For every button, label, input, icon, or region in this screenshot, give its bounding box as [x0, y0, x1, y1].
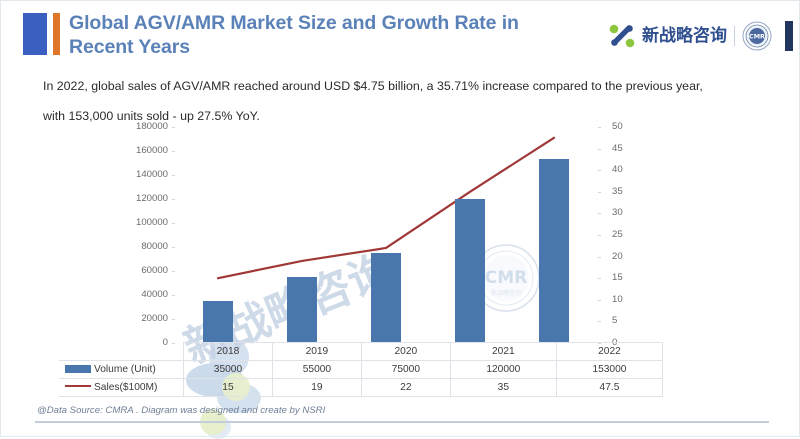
- table-cell-r1-c1: 19: [272, 379, 361, 397]
- table-cell-r0-c1: 55000: [272, 361, 361, 379]
- y2-axis-tick-mark: [598, 127, 601, 128]
- y-axis-tick-mark: [172, 151, 175, 152]
- y-axis-tick-label: 20000: [116, 313, 168, 324]
- footer-divider: [35, 421, 769, 423]
- y2-axis-tick-mark: [598, 321, 601, 322]
- y2-axis-tick-mark: [598, 192, 601, 193]
- data-source-note: @Data Source: CMRA . Diagram was designe…: [37, 405, 325, 416]
- table-year-2020: 2020: [361, 343, 450, 361]
- y2-axis-tick-label: 10: [612, 294, 642, 305]
- table-year-2018: 2018: [184, 343, 273, 361]
- y-axis-tick-label: 140000: [116, 169, 168, 180]
- y2-axis-tick-label: 45: [612, 143, 642, 154]
- nsri-logo-icon: [609, 24, 635, 48]
- brand-logo-group: 新战略咨询 CMR: [609, 21, 793, 51]
- slide-canvas: Global AGV/AMR Market Size and Growth Ra…: [0, 0, 800, 437]
- header-accent-block: [23, 13, 47, 55]
- header-accent-bar: [53, 13, 60, 55]
- y-axis-tick-mark: [172, 127, 175, 128]
- y2-axis-tick-mark: [598, 257, 601, 258]
- logo-divider: [734, 26, 735, 46]
- y-axis-tick-label: 100000: [116, 217, 168, 228]
- table-cell-r0-c3: 120000: [450, 361, 556, 379]
- table-cell-r1-c4: 47.5: [556, 379, 662, 397]
- plot-area: 0200004000060000800001000001200001400001…: [176, 127, 596, 343]
- bar-2021: [455, 199, 485, 343]
- line-swatch-icon: [65, 385, 91, 387]
- y-axis-tick-label: 160000: [116, 145, 168, 156]
- legend-cell-sales: Sales($100M): [59, 379, 184, 397]
- legend-label-sales: Sales($100M): [94, 382, 157, 393]
- table-cell-r1-c3: 35: [450, 379, 556, 397]
- y2-axis-tick-label: 25: [612, 229, 642, 240]
- y2-axis-tick-label: 5: [612, 315, 642, 326]
- bar-2019: [287, 277, 317, 343]
- y2-axis-tick-label: 50: [612, 121, 642, 132]
- table-cell-r1-c2: 22: [361, 379, 450, 397]
- y-axis-tick-mark: [172, 295, 175, 296]
- y2-axis-tick-mark: [598, 300, 601, 301]
- table-row-years: 20182019202020212022: [59, 343, 663, 361]
- y2-axis-tick-label: 30: [612, 207, 642, 218]
- y2-axis-tick-mark: [598, 278, 601, 279]
- table-cell-r1-c0: 15: [184, 379, 273, 397]
- y2-axis-tick-mark: [598, 170, 601, 171]
- watermark-blob-icon: [205, 415, 231, 439]
- table-cell-r0-c2: 75000: [361, 361, 450, 379]
- slide-header: Global AGV/AMR Market Size and Growth Ra…: [1, 1, 800, 65]
- y2-axis-tick-mark: [598, 213, 601, 214]
- y2-axis-tick-mark: [598, 235, 601, 236]
- y-axis-tick-mark: [172, 271, 175, 272]
- y-axis-tick-mark: [172, 247, 175, 248]
- cmr-seal-icon: CMR: [742, 21, 772, 51]
- y2-axis-tick-label: 20: [612, 251, 642, 262]
- y-axis-tick-mark: [172, 223, 175, 224]
- table-year-2019: 2019: [272, 343, 361, 361]
- table-row: Sales($100M) 1519223547.5: [59, 379, 663, 397]
- table-row: Volume (Unit) 35000550007500012000015300…: [59, 361, 663, 379]
- svg-text:CMR: CMR: [749, 33, 765, 41]
- y2-axis-tick-label: 35: [612, 186, 642, 197]
- y-axis-tick-label: 120000: [116, 193, 168, 204]
- bar-swatch-icon: [65, 365, 91, 373]
- y-axis-tick-label: 180000: [116, 121, 168, 132]
- table-cell-r0-c0: 35000: [184, 361, 273, 379]
- legend-label-volume: Volume (Unit): [94, 364, 156, 375]
- brand-name-cn: 新战略咨询: [642, 26, 727, 46]
- y2-axis-tick-label: 15: [612, 272, 642, 283]
- y-axis-tick-label: 60000: [116, 265, 168, 276]
- table-corner-cell: [59, 343, 184, 361]
- bar-2022: [539, 159, 569, 343]
- page-title: Global AGV/AMR Market Size and Growth Ra…: [69, 11, 559, 59]
- bar-2018: [203, 301, 233, 343]
- y-axis-tick-mark: [172, 199, 175, 200]
- legend-cell-volume: Volume (Unit): [59, 361, 184, 379]
- header-edge-bar: [785, 21, 793, 51]
- table-cell-r0-c4: 153000: [556, 361, 662, 379]
- y-axis-tick-mark: [172, 319, 175, 320]
- y-axis-tick-label: 40000: [116, 289, 168, 300]
- table-year-2021: 2021: [450, 343, 556, 361]
- bar-2020: [371, 253, 401, 343]
- y2-axis-tick-label: 40: [612, 164, 642, 175]
- y-axis-tick-mark: [172, 175, 175, 176]
- y2-axis-tick-mark: [598, 149, 601, 150]
- table-year-2022: 2022: [556, 343, 662, 361]
- y-axis-tick-label: 80000: [116, 241, 168, 252]
- chart-data-table: 20182019202020212022 Volume (Unit) 35000…: [59, 342, 663, 397]
